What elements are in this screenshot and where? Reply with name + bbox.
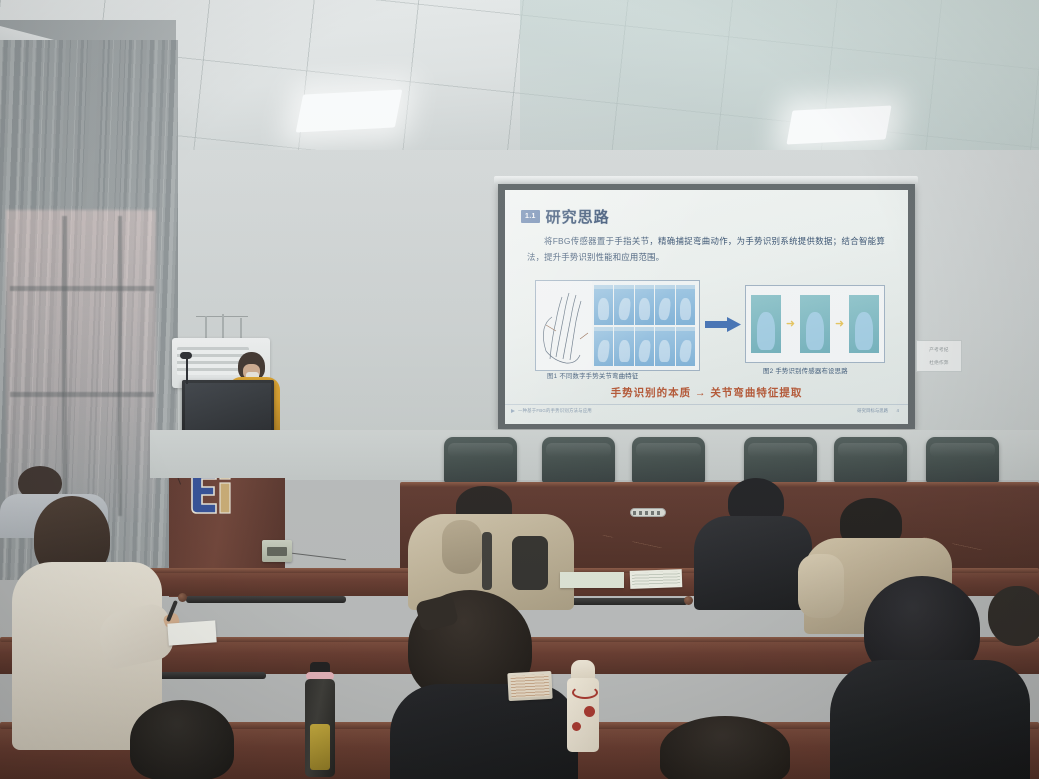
- wall-notice-sign: 产考考纪 杜绝作弊: [916, 340, 962, 372]
- attendee-head: [988, 586, 1039, 646]
- gesture-row-1: [594, 285, 695, 325]
- wall-sign-line-1: 产考考纪: [917, 347, 961, 354]
- attendee-right-edge: [988, 586, 1039, 706]
- phone-screen: [510, 674, 549, 698]
- desk-control-panel[interactable]: [630, 508, 666, 517]
- bottle-pattern: [572, 686, 598, 699]
- backpack-strap: [482, 532, 492, 590]
- attendee-head: [660, 716, 790, 779]
- front-chair[interactable]: [444, 437, 517, 483]
- hand-anatomy-svg: [536, 281, 592, 368]
- footer-page-number: 4: [897, 408, 899, 413]
- gesture-cell: [614, 327, 633, 367]
- notebook-paper: [630, 569, 683, 589]
- seat-back-rail: [186, 596, 346, 603]
- conclusion-arrow: →: [695, 387, 707, 399]
- hand-anatomy-line-drawing: [536, 281, 592, 370]
- sensor-layout-step: [751, 295, 781, 353]
- slide-body-text: 将FBG传感器置于手指关节，精确捕捉弯曲动作，为手势识别系统提供数据；结合智能算…: [527, 234, 885, 265]
- phone-device[interactable]: [507, 671, 552, 701]
- backpack: [512, 536, 548, 590]
- water-bottle-black-yellow[interactable]: [302, 662, 338, 778]
- ceiling-light-panel-right: [786, 105, 891, 144]
- attendee-jacket: [694, 516, 812, 610]
- gesture-cell: [676, 285, 695, 325]
- ac-rod: [222, 314, 224, 340]
- blue-arrow-icon: [705, 317, 741, 332]
- bottle-label: [310, 724, 330, 770]
- ceiling-light-panel-left: [296, 89, 403, 132]
- attendee-hood: [442, 520, 482, 574]
- figure-1-gesture-bending: [535, 280, 700, 371]
- gesture-cell: [655, 285, 674, 325]
- attendee-bottom-left: [100, 700, 270, 779]
- microphone-stem: [186, 358, 188, 384]
- sensor-layout-step: [800, 295, 830, 353]
- cable: [292, 553, 346, 561]
- figure-2-sensor-layout: ➜ ➜: [745, 285, 885, 363]
- slide-section-badge: 1.1: [521, 210, 540, 223]
- paper-ruled-lines: [632, 571, 680, 587]
- water-bottle-cream-red-dots[interactable]: [566, 660, 600, 752]
- microphone-head: [180, 352, 192, 359]
- gesture-row-2: [594, 327, 695, 367]
- figure-1-caption: 图1 不同数字手势关节弯曲特征: [547, 371, 638, 380]
- attendee-head: [130, 700, 234, 779]
- rail-knob: [684, 596, 693, 605]
- projector-screen: 1.1 研究思路 将FBG传感器置于手指关节，精确捕捉弯曲动作，为手势识别系统提…: [505, 190, 908, 424]
- bottle-pattern-dot: [584, 706, 595, 717]
- lecture-hall-photo: 1.1 研究思路 将FBG传感器置于手指关节，精确捕捉弯曲动作，为手势识别系统提…: [0, 0, 1039, 779]
- front-chair[interactable]: [542, 437, 615, 483]
- conclusion-left-text: 手势识别的本质: [611, 387, 692, 399]
- gesture-photo-grid: [594, 285, 695, 366]
- gesture-cell: [676, 327, 695, 367]
- front-chair[interactable]: [834, 437, 907, 483]
- step-arrow-icon: ➜: [786, 319, 795, 330]
- ac-rod: [205, 316, 207, 340]
- slide-conclusion-line: 手势识别的本质 → 关节弯曲特征提取: [505, 385, 908, 400]
- footer-left-text: 一种基于FBG的手势识别方法与应用: [518, 408, 592, 414]
- rail-knob: [178, 593, 187, 602]
- bottle-pattern-dot: [572, 722, 581, 731]
- gesture-cell: [614, 285, 633, 325]
- attendee-black-jacket-center: [694, 478, 814, 608]
- step-arrow-icon: ➜: [835, 319, 844, 330]
- equipment-box: [262, 540, 292, 562]
- conclusion-right-text: 关节弯曲特征提取: [710, 387, 802, 399]
- front-chair[interactable]: [744, 437, 817, 483]
- bottle-cap: [571, 660, 595, 680]
- front-chair[interactable]: [632, 437, 705, 483]
- sensor-layout-step: [849, 295, 879, 353]
- slide-title-row: 1.1 研究思路: [521, 206, 610, 227]
- presentation-slide: 1.1 研究思路 将FBG传感器置于手指关节，精确捕捉弯曲动作，为手势识别系统提…: [505, 190, 908, 424]
- figure-2-caption: 图2 手势识别传感器布设思路: [763, 366, 848, 375]
- slide-footer: 一种基于FBG的手势识别方法与应用 研究目标与思路 4: [505, 404, 908, 419]
- wall-sign-line-2: 杜绝作弊: [917, 360, 961, 367]
- slide-title: 研究思路: [546, 206, 610, 227]
- figure-transition-arrow: [705, 317, 741, 332]
- gesture-cell: [594, 285, 613, 325]
- laptop-screen: [185, 383, 271, 437]
- ac-rod: [240, 318, 242, 340]
- gesture-cell: [635, 327, 654, 367]
- attendee-bottom-right: [600, 716, 840, 779]
- footer-triangle-icon: [511, 409, 515, 413]
- notebook-paper: [560, 572, 624, 588]
- front-chair[interactable]: [926, 437, 999, 483]
- attendee-beige-jacket: [408, 486, 576, 606]
- notebook-paper: [167, 620, 216, 645]
- gesture-cell: [655, 327, 674, 367]
- gesture-cell: [594, 327, 613, 367]
- gesture-cell: [635, 285, 654, 325]
- footer-right-text: 研究目标与思路: [857, 408, 888, 414]
